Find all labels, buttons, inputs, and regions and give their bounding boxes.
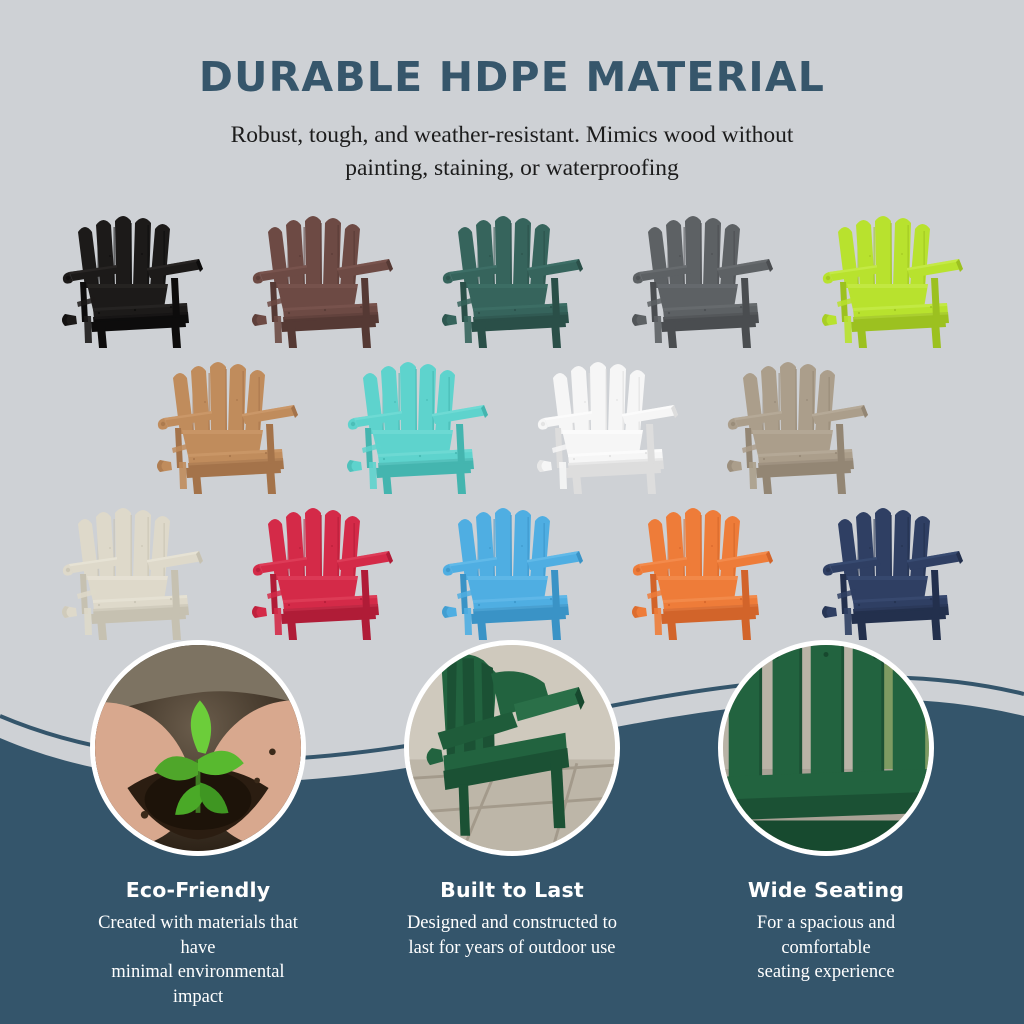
chair-swatch-navy-blue[interactable] <box>807 488 978 640</box>
chair-swatch-lime-green[interactable] <box>807 196 978 348</box>
chair-icon-brown <box>237 196 408 348</box>
feature-desc-line-1: Created with materials that have <box>98 913 298 958</box>
infographic-page: DURABLE HDPE MATERIAL Robust, tough, and… <box>0 0 1024 1024</box>
chair-swatch-turquoise[interactable] <box>332 342 503 494</box>
chair-icon-lime-green <box>807 196 978 348</box>
chair-icon-weathered-wood <box>712 342 883 494</box>
feature-desc-line-2: seating experience <box>757 962 894 982</box>
feature-title: Eco-Friendly <box>90 856 306 902</box>
green-adirondack-chair-on-patio-photo <box>404 640 620 856</box>
subtitle-line-2: painting, staining, or waterproofing <box>345 155 679 181</box>
chair-icon-orange <box>617 488 788 640</box>
features-section: Eco-FriendlyCreated with materials that … <box>0 640 1024 1009</box>
feature-description: Designed and constructed tolast for year… <box>404 902 620 960</box>
chair-swatch-orange[interactable] <box>617 488 788 640</box>
header: DURABLE HDPE MATERIAL Robust, tough, and… <box>0 0 1024 186</box>
feature-description: Created with materials that haveminimal … <box>90 902 306 1009</box>
chair-icon-navy-blue <box>807 488 978 640</box>
chair-swatch-light-blue[interactable] <box>427 488 598 640</box>
feature-title: Built to Last <box>404 856 620 902</box>
chair-icon-ivory <box>47 488 218 640</box>
chair-row-3 <box>0 488 1024 640</box>
feature-description: For a spacious and comfortableseating ex… <box>718 902 934 985</box>
feature-desc-line-2: last for years of outdoor use <box>408 938 615 958</box>
chair-swatch-gray[interactable] <box>617 196 788 348</box>
features-row: Eco-FriendlyCreated with materials that … <box>0 640 1024 1009</box>
chair-icon-turquoise <box>332 342 503 494</box>
chair-swatch-ivory[interactable] <box>47 488 218 640</box>
feature-title: Wide Seating <box>718 856 934 902</box>
chair-icon-red <box>237 488 408 640</box>
chair-color-grid <box>0 196 1024 640</box>
chair-row-2 <box>0 342 1024 494</box>
chair-icon-light-blue <box>427 488 598 640</box>
chair-swatch-weathered-wood[interactable] <box>712 342 883 494</box>
feature-wide-seating: Wide SeatingFor a spacious and comfortab… <box>718 640 934 1009</box>
chair-icon-dark-green <box>427 196 598 348</box>
chair-swatch-white[interactable] <box>522 342 693 494</box>
chair-swatch-red[interactable] <box>237 488 408 640</box>
hands-holding-seedling-photo <box>90 640 306 856</box>
page-title: DURABLE HDPE MATERIAL <box>0 0 1024 99</box>
chair-icon-gray <box>617 196 788 348</box>
chair-swatch-black[interactable] <box>47 196 218 348</box>
chair-icon-black <box>47 196 218 348</box>
chair-icon-teak <box>142 342 313 494</box>
feature-desc-line-1: Designed and constructed to <box>407 913 617 933</box>
subtitle-line-1: Robust, tough, and weather-resistant. Mi… <box>231 122 794 148</box>
page-subtitle: Robust, tough, and weather-resistant. Mi… <box>0 99 1024 186</box>
feature-eco-friendly: Eco-FriendlyCreated with materials that … <box>90 640 306 1009</box>
green-chair-back-slats-closeup-photo <box>718 640 934 856</box>
feature-desc-line-1: For a spacious and comfortable <box>757 913 895 958</box>
feature-built-to-last: Built to LastDesigned and constructed to… <box>404 640 620 1009</box>
chair-swatch-dark-green[interactable] <box>427 196 598 348</box>
chair-icon-white <box>522 342 693 494</box>
feature-desc-line-2: minimal environmental impact <box>111 962 284 1007</box>
chair-row-1 <box>0 196 1024 348</box>
chair-swatch-teak[interactable] <box>142 342 313 494</box>
chair-swatch-brown[interactable] <box>237 196 408 348</box>
